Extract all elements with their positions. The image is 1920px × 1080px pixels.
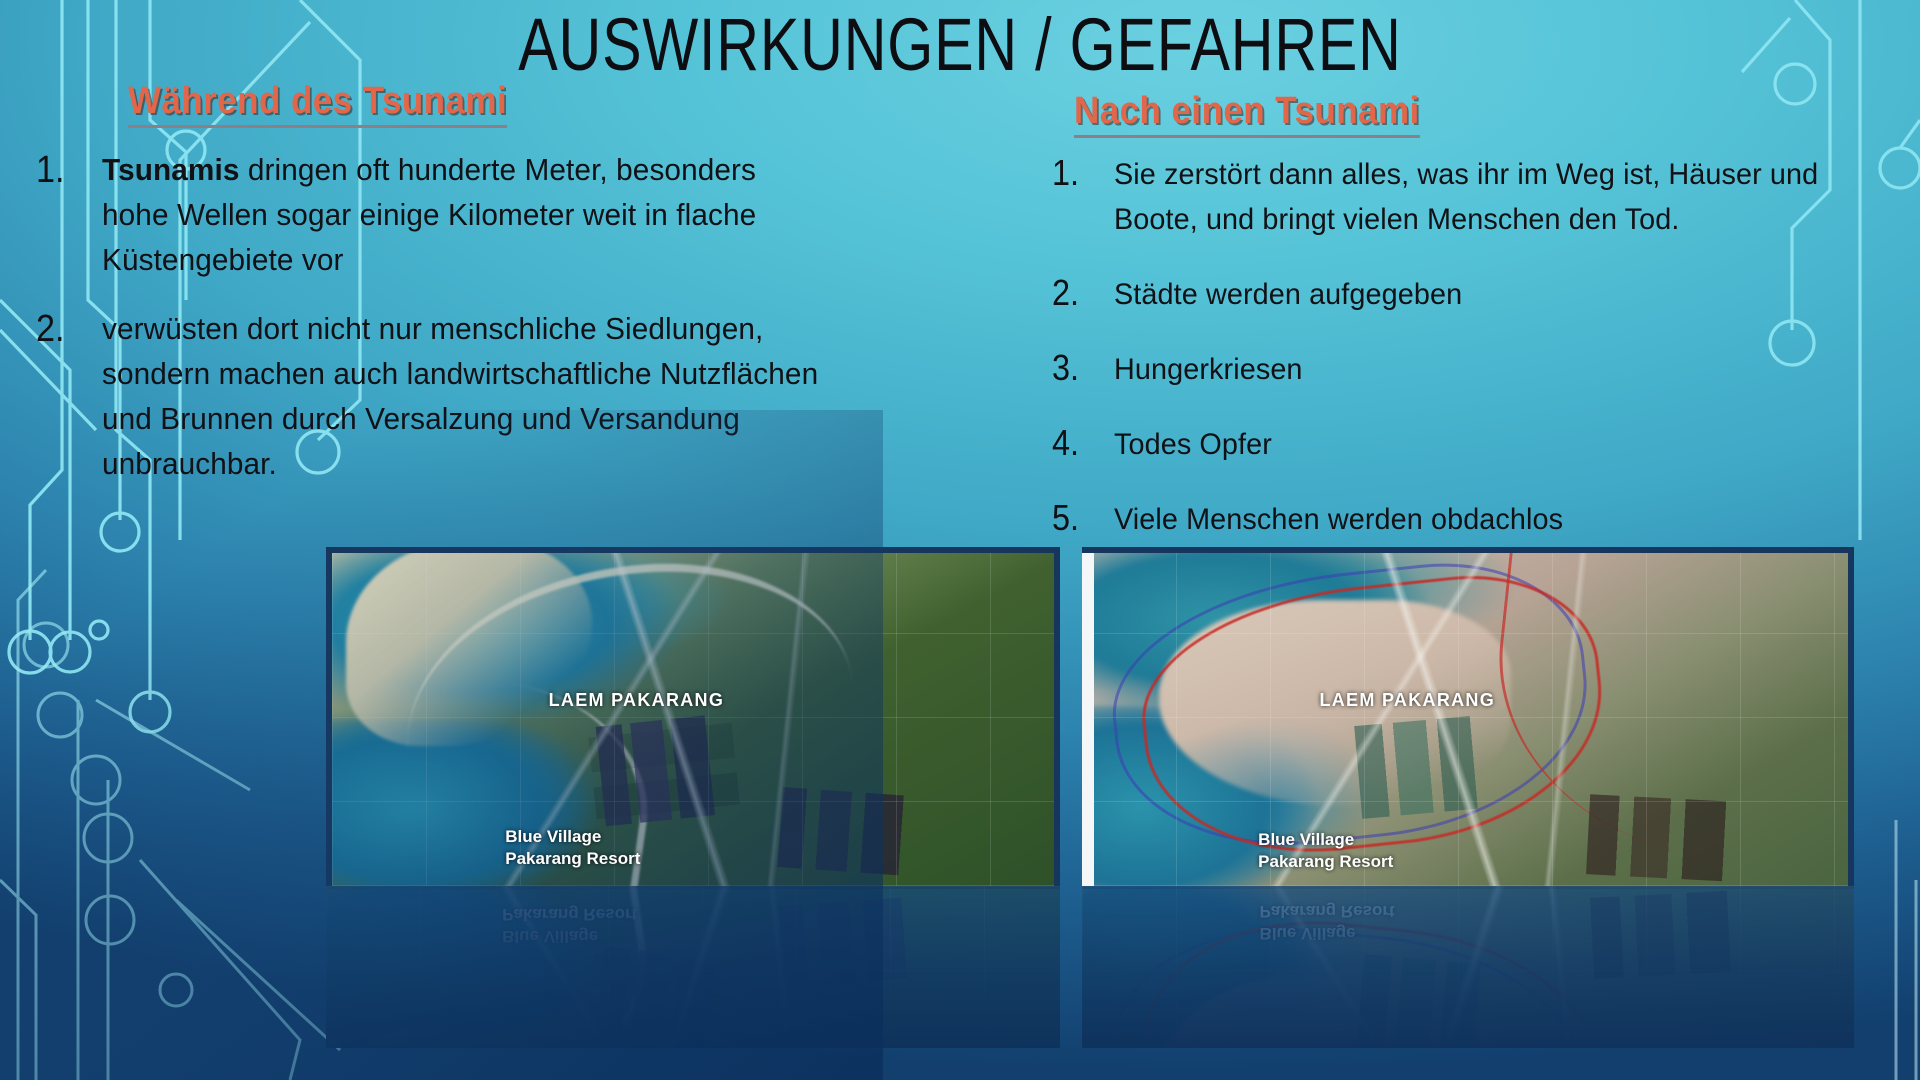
- list-item-number: 5.: [1052, 497, 1108, 539]
- satellite-image-after-scene: [1082, 553, 1848, 886]
- map-label-resort-line2: Pakarang Resort: [1258, 851, 1393, 873]
- list-item-text: Tsunamis dringen oft hunderte Meter, bes…: [102, 148, 826, 283]
- list-item-number: 2.: [36, 307, 95, 352]
- list-item-text: Städte werden aufgegeben: [1114, 272, 1462, 317]
- list-item: 1. Sie zerstört dann alles, was ihr im W…: [1052, 152, 1882, 242]
- list-item: 4. Todes Opfer: [1052, 422, 1882, 467]
- list-item-number: 4.: [1052, 422, 1108, 464]
- list-item-text: Sie zerstört dann alles, was ihr im Weg …: [1114, 152, 1851, 242]
- left-column-list: 1. Tsunamis dringen oft hunderte Meter, …: [36, 148, 856, 511]
- list-item-text: Hungerkriesen: [1114, 347, 1303, 392]
- satellite-image-before: LAEM PAKARANG Blue Village Pakarang Reso…: [326, 547, 1060, 1048]
- list-item: 5. Viele Menschen werden obdachlos: [1052, 497, 1882, 542]
- slide-canvas: AUSWIRKUNGEN / GEFAHREN Während des Tsun…: [0, 0, 1920, 1080]
- map-label-laem-pakarang: LAEM PAKARANG: [1319, 690, 1495, 711]
- list-item-number: 1.: [36, 148, 95, 193]
- right-column-heading: Nach einen Tsunami: [1074, 90, 1420, 138]
- map-label-resort-line1: Blue Village: [505, 826, 640, 848]
- satellite-image-before-reflection: Blue Village Pakarang Resort: [326, 886, 1060, 1048]
- map-label-resort-line2: Pakarang Resort: [505, 848, 640, 870]
- list-item-number: 2.: [1052, 272, 1108, 314]
- satellite-image-after: LAEM PAKARANG Blue Village Pakarang Reso…: [1082, 547, 1854, 1048]
- satellite-image-before-frame: LAEM PAKARANG Blue Village Pakarang Reso…: [326, 547, 1060, 886]
- map-label-blue-village-resort: Blue Village Pakarang Resort: [1258, 829, 1393, 873]
- list-item-text: verwüsten dort nicht nur menschliche Sie…: [102, 307, 826, 487]
- list-item-number: 3.: [1052, 347, 1108, 389]
- right-column-list: 1. Sie zerstört dann alles, was ihr im W…: [1052, 152, 1882, 572]
- map-label-laem-pakarang: LAEM PAKARANG: [549, 690, 725, 711]
- satellite-image-after-frame: LAEM PAKARANG Blue Village Pakarang Reso…: [1082, 547, 1854, 886]
- list-item: 1. Tsunamis dringen oft hunderte Meter, …: [36, 148, 856, 283]
- list-item-text: Todes Opfer: [1114, 422, 1272, 467]
- list-item-number: 1.: [1052, 152, 1108, 194]
- image-white-edge: [1082, 553, 1094, 886]
- map-label-blue-village-resort: Blue Village Pakarang Resort: [505, 826, 640, 870]
- satellite-image-before-scene: [332, 553, 1054, 886]
- list-item-bold-prefix: Tsunamis: [102, 152, 239, 187]
- left-column-heading: Während des Tsunami: [128, 80, 507, 128]
- page-title: AUSWIRKUNGEN / GEFAHREN: [192, 8, 1728, 82]
- satellite-image-after-reflection: Blue Village Pakarang Resort: [1082, 886, 1854, 1048]
- map-label-resort-line1: Blue Village: [1258, 829, 1393, 851]
- list-item: 2. verwüsten dort nicht nur menschliche …: [36, 307, 856, 487]
- list-item-text: Viele Menschen werden obdachlos: [1114, 497, 1563, 542]
- list-item: 2. Städte werden aufgegeben: [1052, 272, 1882, 317]
- list-item: 3. Hungerkriesen: [1052, 347, 1882, 392]
